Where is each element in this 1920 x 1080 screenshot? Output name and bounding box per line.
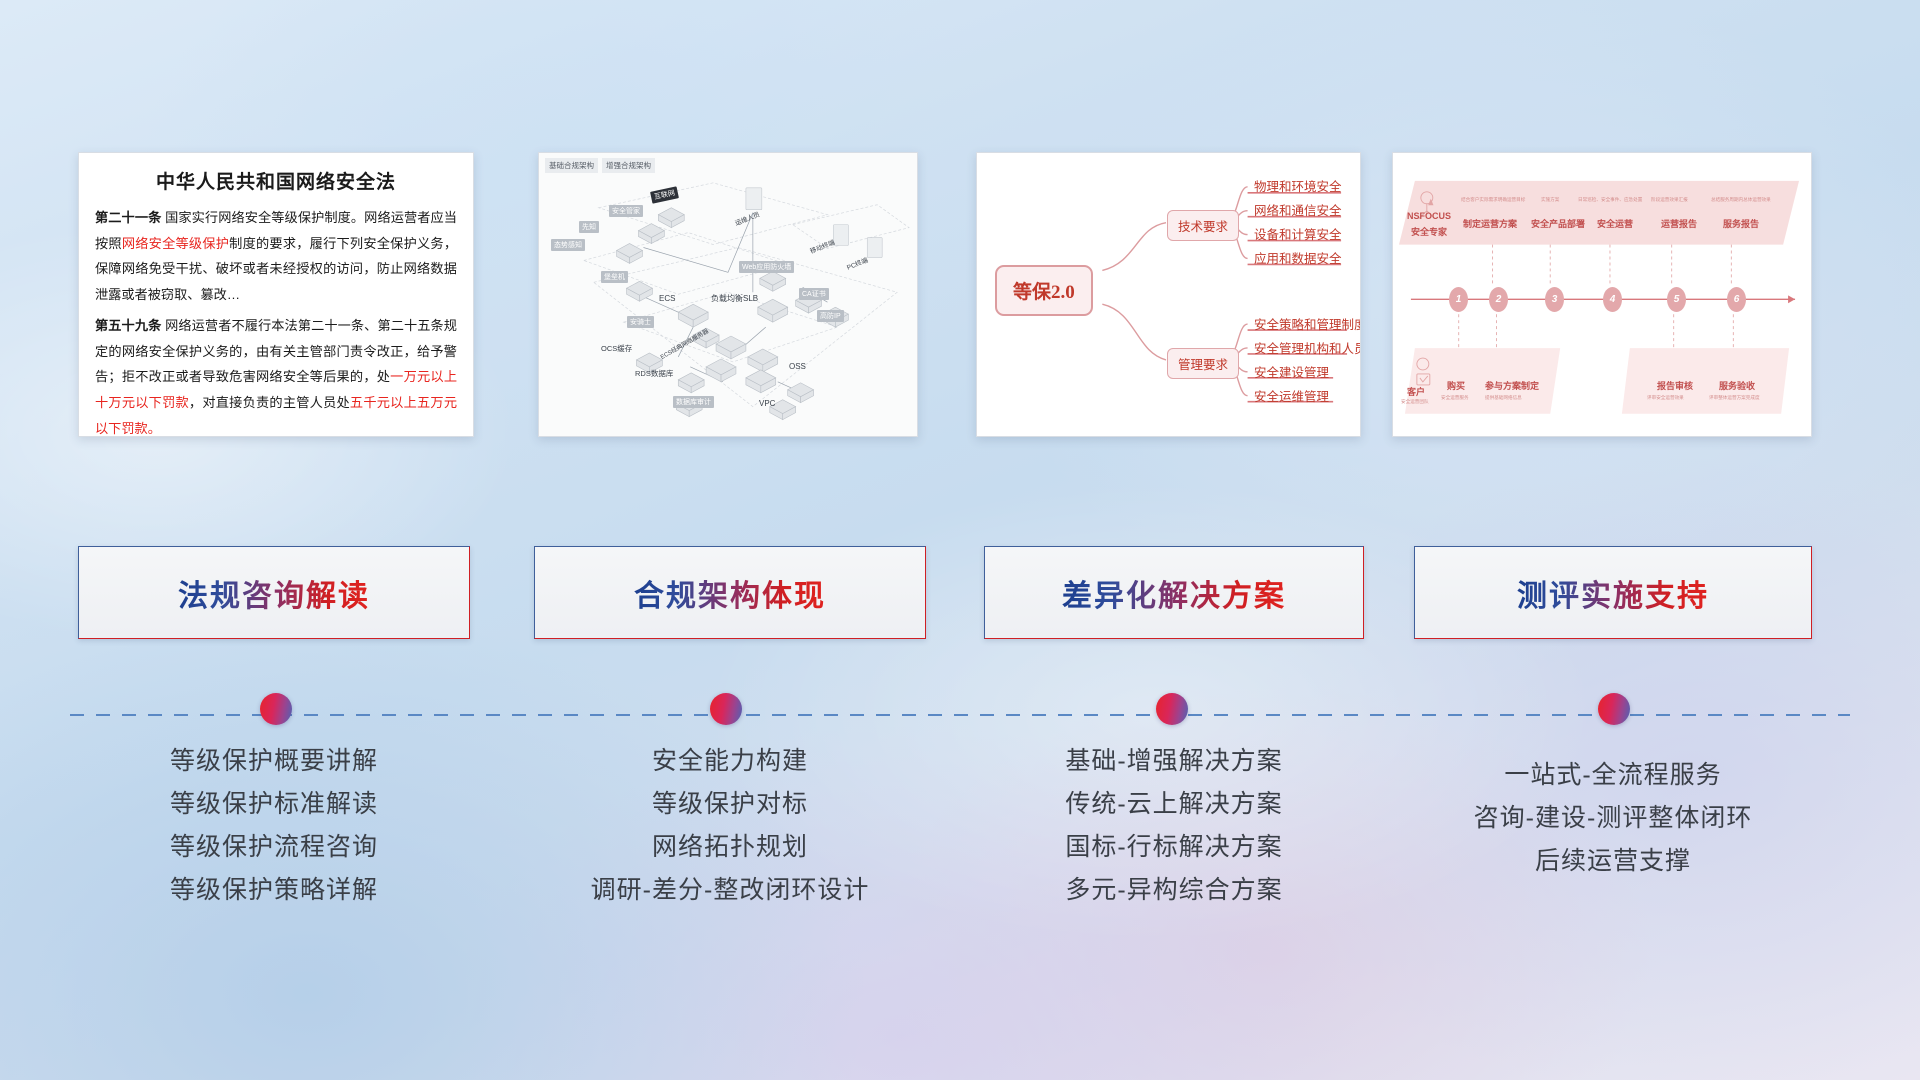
node-slb: 负载均衡SLB	[711, 293, 758, 304]
mindmap-branch-technical: 技术要求	[1167, 210, 1239, 241]
step-ops-report-title: 运营报告	[1661, 217, 1697, 230]
timeline-dot-1[interactable]	[260, 693, 292, 725]
step-review-title: 报告审核	[1657, 379, 1693, 392]
node-security-manager: 安全管家	[609, 205, 643, 217]
nsfocus-expert-line1: NSFOCUS	[1407, 211, 1451, 221]
law-article-59: 第五十九条 网络运营者不履行本法第二十一条、第二十五条规定的网络安全保护义务的，…	[95, 313, 457, 437]
title-box-compliance-architecture[interactable]: 合规架构体现	[534, 546, 926, 639]
node-bastion-host: 堡垒机	[601, 271, 628, 283]
mindmap-leaf-app-data: 应用和数据安全	[1254, 248, 1342, 267]
law-title: 中华人民共和国网络安全法	[95, 167, 457, 194]
service-column-3: 基础-增强解决方案 传统-云上解决方案 国标-行标解决方案 多元-异构综合方案	[984, 740, 1364, 912]
step-deploy-sub: 实施方案	[1541, 197, 1559, 203]
step-service-report-title: 服务报告	[1723, 217, 1759, 230]
node-xianzhi: 先知	[579, 221, 599, 233]
card-nsfocus-timeline[interactable]: NSFOCUS 安全专家 制定运营方案 结合客户实际需求明确运营目标 安全产品部…	[1392, 152, 1812, 437]
card-cloud-architecture[interactable]: 基础合规架构 增强合规架构	[538, 152, 918, 437]
title-label-1: 法规咨询解读	[178, 571, 370, 615]
mindmap-leaf-physical-env: 物理和环境安全	[1254, 176, 1342, 195]
node-ocs-cache: OCS缓存	[601, 343, 632, 354]
article-59-text-b: ，对直接负责的主管人员处	[189, 395, 350, 410]
node-anqishi: 安骑士	[627, 316, 654, 328]
mindmap-leaf-org-personnel: 安全管理机构和人员	[1254, 338, 1361, 357]
step-participate-sub: 提供基础网络信息	[1485, 395, 1522, 401]
step-service-report-sub: 总结服务周期内总体运营效果	[1711, 197, 1771, 203]
step-participate-title: 参与方案制定	[1485, 379, 1539, 392]
node-ca-certificate: CA证书	[799, 288, 829, 300]
title-label-3: 差异化解决方案	[1062, 571, 1286, 615]
list-item: 后续运营支撑	[1414, 840, 1812, 883]
step-acceptance-title: 服务验收	[1719, 379, 1755, 392]
architecture-diagram: 基础合规架构 增强合规架构	[539, 153, 917, 436]
mindmap-leaf-network-comm: 网络和通信安全	[1254, 200, 1342, 219]
timeline-number-2: 2	[1489, 287, 1508, 312]
title-boxes-row: 法规咨询解读 合规架构体现 差异化解决方案 测评实施支持	[0, 546, 1920, 642]
list-item: 国标-行标解决方案	[984, 826, 1364, 869]
node-situational-awareness: 态势感知	[551, 239, 585, 251]
mindmap-leaf-operation-mgmt: 安全运维管理	[1254, 386, 1329, 405]
mindmap-diagram: 等保2.0 技术要求 管理要求 物理和环境安全 网络和通信安全 设备和计算安全 …	[977, 153, 1360, 436]
timeline-track	[70, 693, 1850, 737]
service-column-2: 安全能力构建 等级保护对标 网络拓扑规划 调研-差分-整改闭环设计	[534, 740, 926, 912]
article-21-label: 第二十一条	[95, 210, 161, 225]
service-column-4: 一站式-全流程服务 咨询-建设-测评整体闭环 后续运营支撑	[1414, 754, 1812, 883]
step-acceptance-sub: 评审整体运营方案完成度	[1709, 395, 1760, 401]
list-item: 调研-差分-整改闭环设计	[534, 869, 926, 912]
node-waf: Web应用防火墙	[739, 261, 794, 273]
mindmap-leaf-policy-system: 安全策略和管理制度	[1254, 314, 1361, 333]
timeline-dot-3[interactable]	[1156, 693, 1188, 725]
list-item: 基础-增强解决方案	[984, 740, 1364, 783]
step-purchase-sub: 安全运营服务	[1441, 395, 1469, 401]
title-box-assessment-support[interactable]: 测评实施支持	[1414, 546, 1812, 639]
node-vpc: VPC	[759, 399, 775, 408]
list-item: 等级保护流程咨询	[78, 826, 470, 869]
card-cybersecurity-law[interactable]: 中华人民共和国网络安全法 第二十一条 国家实行网络安全等级保护制度。网络运营者应…	[78, 152, 474, 437]
timeline-number-3: 3	[1545, 287, 1564, 312]
node-oss: OSS	[789, 362, 806, 371]
list-item: 网络拓扑规划	[534, 826, 926, 869]
law-document: 中华人民共和国网络安全法 第二十一条 国家实行网络安全等级保护制度。网络运营者应…	[79, 153, 473, 437]
law-article-21: 第二十一条 国家实行网络安全等级保护制度。网络运营者应当按照网络安全等级保护制度…	[95, 205, 457, 308]
card-mindmap-dengbao[interactable]: 等保2.0 技术要求 管理要求 物理和环境安全 网络和通信安全 设备和计算安全 …	[976, 152, 1361, 437]
timeline-dot-2[interactable]	[710, 693, 742, 725]
node-database-audit: 数据库审计	[673, 396, 714, 408]
step-ops-report-sub: 阶段运营效果汇报	[1651, 197, 1688, 203]
reference-cards-row: 中华人民共和国网络安全法 第二十一条 国家实行网络安全等级保护制度。网络运营者应…	[0, 152, 1920, 442]
nsfocus-expert-line2: 安全专家	[1411, 225, 1447, 238]
list-item: 等级保护对标	[534, 783, 926, 826]
service-column-1: 等级保护概要讲解 等级保护标准解读 等级保护流程咨询 等级保护策略详解	[78, 740, 470, 912]
title-label-2: 合规架构体现	[634, 571, 826, 615]
title-box-regulation-consulting[interactable]: 法规咨询解读	[78, 546, 470, 639]
mindmap-branch-management: 管理要求	[1167, 348, 1239, 379]
step-operate-sub: 日常巡检、安全事件、应急处置	[1578, 197, 1642, 203]
timeline-number-4: 4	[1603, 287, 1622, 312]
article-59-label: 第五十九条	[95, 318, 161, 333]
step-review-sub: 评审安全运营效果	[1647, 395, 1684, 401]
step-purchase-title: 购买	[1447, 379, 1465, 392]
list-item: 多元-异构综合方案	[984, 869, 1364, 912]
article-21-highlight: 网络安全等级保护	[122, 236, 229, 251]
title-box-differentiated-solution[interactable]: 差异化解决方案	[984, 546, 1364, 639]
timeline-dot-4[interactable]	[1598, 693, 1630, 725]
list-item: 等级保护概要讲解	[78, 740, 470, 783]
step-plan-sub: 结合客户实际需求明确运营目标	[1461, 197, 1525, 203]
mindmap-root: 等保2.0	[995, 265, 1093, 316]
step-deploy-title: 安全产品部署	[1531, 217, 1585, 230]
node-ecs: ECS	[659, 294, 675, 303]
timeline-dashed-line	[70, 714, 1850, 716]
title-label-4: 测评实施支持	[1517, 571, 1709, 615]
node-anti-ddos-ip: 高防IP	[817, 310, 844, 322]
list-item: 等级保护标准解读	[78, 783, 470, 826]
timeline-number-1: 1	[1449, 287, 1468, 312]
list-item: 一站式-全流程服务	[1414, 754, 1812, 797]
step-plan-title: 制定运营方案	[1463, 217, 1517, 230]
customer-line2: 安全运营团队	[1401, 399, 1429, 405]
list-item: 传统-云上解决方案	[984, 783, 1364, 826]
list-item: 安全能力构建	[534, 740, 926, 783]
list-item: 等级保护策略详解	[78, 869, 470, 912]
mindmap-leaf-device-compute: 设备和计算安全	[1254, 224, 1342, 243]
nsfocus-service-timeline: NSFOCUS 安全专家 制定运营方案 结合客户实际需求明确运营目标 安全产品部…	[1393, 153, 1811, 436]
timeline-number-5: 5	[1667, 287, 1686, 312]
step-operate-title: 安全运营	[1597, 217, 1633, 230]
node-rds-database: RDS数据库	[635, 368, 673, 379]
list-item: 咨询-建设-测评整体闭环	[1414, 797, 1812, 840]
customer-line1: 客户	[1407, 385, 1425, 398]
mindmap-leaf-construction-mgmt: 安全建设管理	[1254, 362, 1329, 381]
timeline-number-6: 6	[1727, 287, 1746, 312]
